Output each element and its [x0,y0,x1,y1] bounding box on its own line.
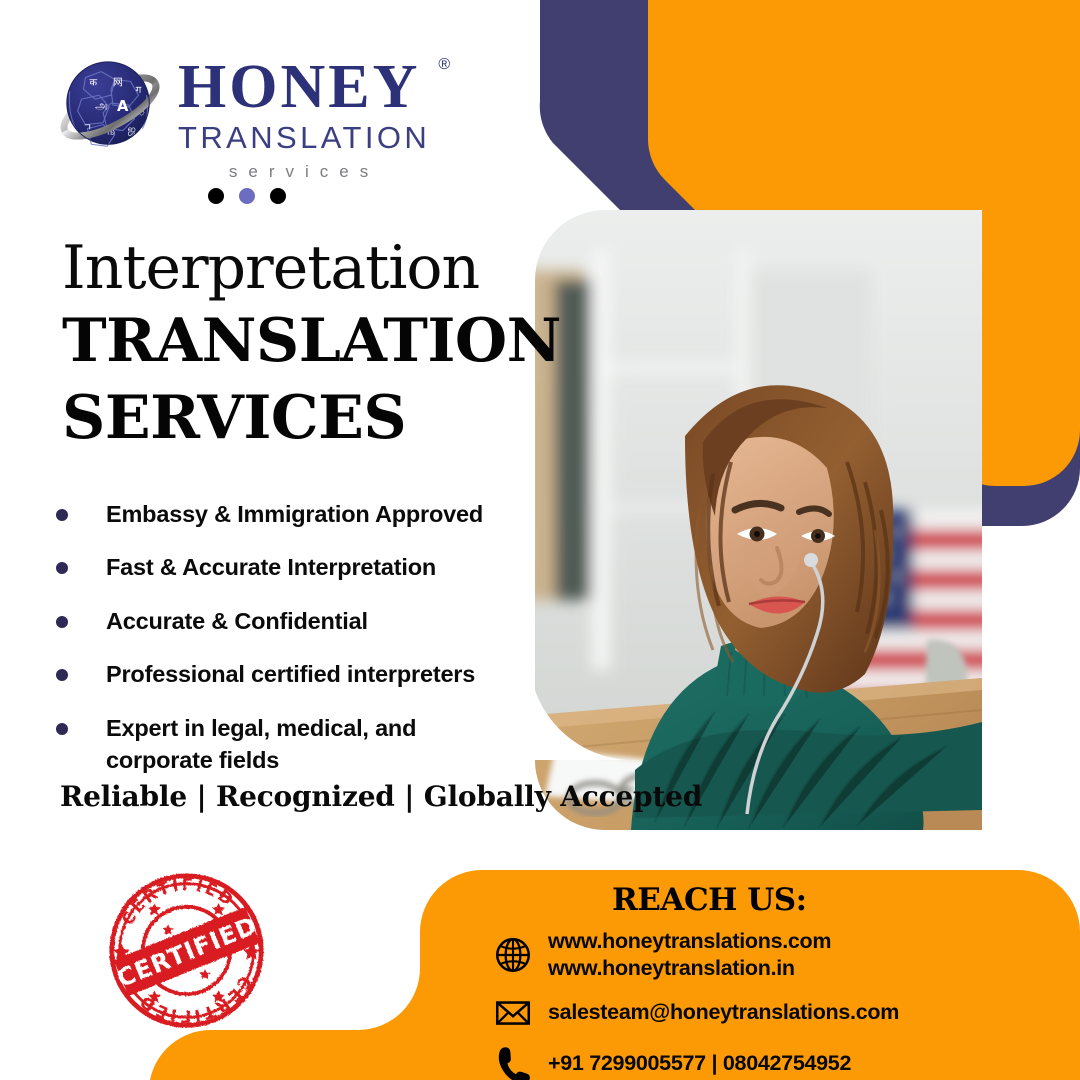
feature-text: Accurate & Confidential [106,605,368,637]
list-item: Expert in legal, medical, and corporate … [56,712,536,777]
svg-text:A: A [117,98,129,115]
website-1[interactable]: www.honeytranslations.com [548,928,831,955]
bullet-dot-icon [56,616,68,628]
logo-line3: services [178,162,430,182]
certified-stamp: CERTIFIED CERTIFIED CERTIFIED [104,868,269,1033]
logo-dots [208,188,286,204]
svg-text:网: 网 [113,76,123,88]
website-lines: www.honeytranslations.com www.honeytrans… [548,928,831,982]
globe-icon [492,934,534,976]
feature-text: Expert in legal, medical, and corporate … [106,712,456,777]
contact-list: www.honeytranslations.com www.honeytrans… [492,928,1052,1080]
contact-row-website[interactable]: www.honeytranslations.com www.honeytrans… [492,928,1052,982]
feature-text: Professional certified interpreters [106,658,475,690]
logo-dot-1 [208,188,224,204]
bullet-dot-icon [56,509,68,521]
bullet-dot-icon [56,723,68,735]
feature-text: Embassy & Immigration Approved [106,498,483,530]
headline-block: Interpretation TRANSLATION SERVICES [62,238,532,452]
feature-text: Fast & Accurate Interpretation [106,551,436,583]
headline-script-line: Interpretation [62,238,532,298]
logo-line2: TRANSLATION [178,119,430,158]
phone-numbers[interactable]: +91 7299005577 | 08042754952 [548,1050,851,1077]
contact-row-phone[interactable]: +91 7299005577 | 08042754952 [492,1042,1052,1080]
bullet-dot-icon [56,562,68,574]
website-2[interactable]: www.honeytranslation.in [548,955,831,982]
feature-list: Embassy & Immigration Approved Fast & Ac… [56,498,536,798]
svg-text:ग: ग [136,85,142,96]
list-item: Embassy & Immigration Approved [56,498,536,530]
list-item: Fast & Accurate Interpretation [56,551,536,583]
list-item: Accurate & Confidential [56,605,536,637]
poster-canvas: क 网 ग ੓ அ A ஂ ㄱ ம ஜ HONEY ® TRANSLATION … [0,0,1080,1080]
logo-dot-3 [270,188,286,204]
brand-logo[interactable]: क 网 ग ੓ அ A ஂ ㄱ ம ஜ HONEY ® TRANSLATION … [56,52,430,182]
svg-text:அ: அ [95,99,107,112]
svg-text:ஜ: ஜ [128,125,136,136]
headline-main-line1: TRANSLATION [62,308,532,375]
logo-wordmark: HONEY ® TRANSLATION services [178,52,430,182]
phone-lines: +91 7299005577 | 08042754952 [548,1050,851,1077]
contact-row-email[interactable]: salesteam@honeytranslations.com [492,991,1052,1033]
email-address[interactable]: salesteam@honeytranslations.com [548,999,899,1026]
globe-logo-icon: क 网 ग ੓ அ A ஂ ㄱ ம ஜ [56,52,164,160]
tagline: Reliable | Recognized | Globally Accepte… [60,780,702,813]
headline-main-line2: SERVICES [62,385,532,452]
registered-mark-icon: ® [438,56,450,74]
bullet-dot-icon [56,669,68,681]
svg-text:क: क [90,77,98,88]
phone-icon [492,1042,534,1080]
email-lines: salesteam@honeytranslations.com [548,999,899,1026]
envelope-icon [492,991,534,1033]
logo-dot-2 [239,188,255,204]
list-item: Professional certified interpreters [56,658,536,690]
reach-us-title: REACH US: [612,882,807,918]
logo-name: HONEY [178,58,430,117]
